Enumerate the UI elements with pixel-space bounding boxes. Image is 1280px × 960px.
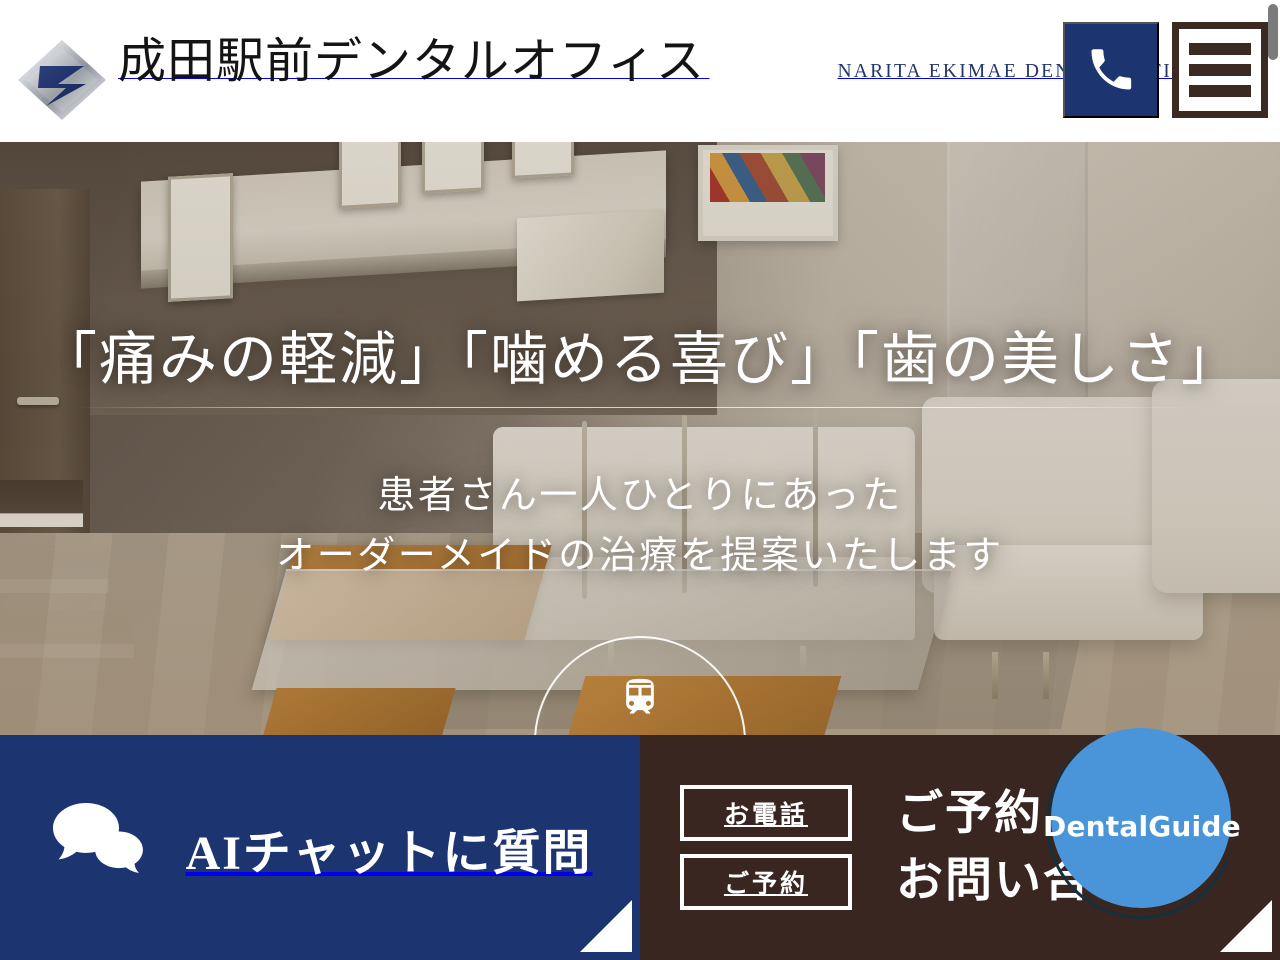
reservation-outline-button[interactable]: ご予約: [680, 854, 852, 910]
ai-chat-label: AIチャットに質問: [186, 813, 593, 883]
ai-chat-button[interactable]: AIチャットに質問: [0, 735, 640, 960]
phone-outline-button[interactable]: お電話: [680, 785, 852, 841]
logo-title-jp: 成田駅前デンタルオフィス: [118, 35, 705, 88]
corner-triangle-icon: [580, 900, 632, 952]
hero-divider: [77, 407, 1203, 408]
hero-subtitle-line-1: 患者さん一人ひとりにあった: [0, 466, 1280, 526]
train-icon: [617, 638, 663, 727]
contact-button-stack: お電話 ご予約: [680, 785, 852, 910]
header-menu-button[interactable]: [1172, 22, 1268, 118]
chat-bubbles-icon: [48, 799, 156, 896]
logo-text-block: 成田駅前デンタルオフィス NARITA EKIMAE DENTAL OFFICE: [118, 36, 1201, 87]
dentalguide-label: DentalGuide: [1043, 810, 1239, 843]
diamond-z-logo-icon: [14, 36, 110, 124]
dentalguide-badge[interactable]: DentalGuide: [1043, 726, 1239, 922]
header-phone-button[interactable]: [1063, 22, 1159, 118]
site-logo-link[interactable]: 成田駅前デンタルオフィス NARITA EKIMAE DENTAL OFFICE: [14, 36, 1201, 124]
page-root: 成田駅前デンタルオフィス NARITA EKIMAE DENTAL OFFICE: [0, 0, 1280, 960]
hero-subtitle: 患者さん一人ひとりにあった オーダーメイドの治療を提案いたします: [0, 466, 1280, 586]
site-header: 成田駅前デンタルオフィス NARITA EKIMAE DENTAL OFFICE: [0, 0, 1280, 142]
page-scrollbar[interactable]: [1266, 0, 1280, 960]
hamburger-menu-icon-bar-3: [1189, 85, 1251, 97]
hamburger-menu-icon-bar-2: [1189, 64, 1251, 76]
phone-icon: [1085, 44, 1137, 96]
hero-section: 「痛みの軽減」「噛める喜び」「歯の美しさ」 患者さん一人ひとりにあった オーダー…: [0, 142, 1280, 735]
hero-subtitle-line-2: オーダーメイドの治療を提案いたします: [0, 526, 1280, 586]
hero-title: 「痛みの軽減」「噛める喜び」「歯の美しさ」: [0, 312, 1280, 396]
hamburger-menu-icon: [1189, 43, 1251, 55]
scrollbar-thumb[interactable]: [1268, 4, 1278, 60]
